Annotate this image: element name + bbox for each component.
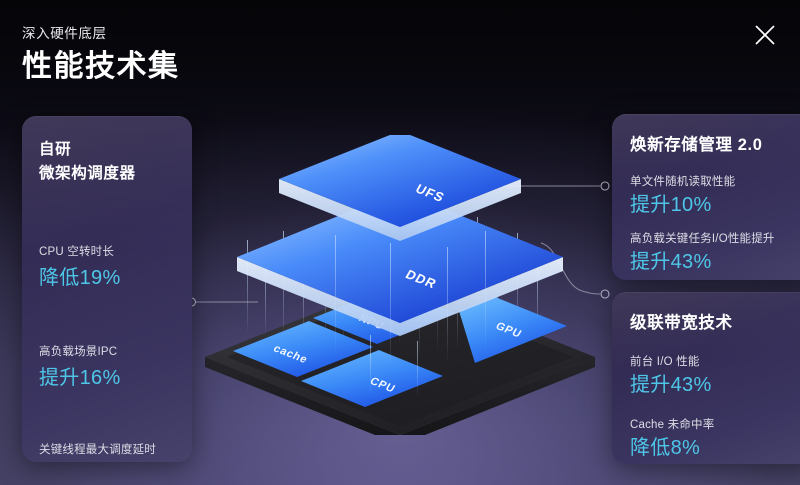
metric-high-load-ipc: 高负载场景IPC 提升16% [39, 345, 192, 391]
metric-value: 提升43% [630, 373, 800, 398]
panel-top-right-title: 焕新存储管理 2.0 [630, 134, 800, 157]
metric-cpu-idle-time: CPU 空转时长 降低19% [39, 245, 192, 291]
metric-label: 高负载关键任务I/O性能提升 [630, 232, 800, 247]
metric-label: Cache 未命中率 [630, 418, 800, 433]
panel-left-title: 自研 微架构调度器 [39, 138, 192, 185]
metric-value: 降低19% [39, 266, 192, 291]
metric-value: 提升10% [630, 193, 800, 218]
metric-value: 提升16% [39, 366, 192, 391]
metric-single-file-random-read: 单文件随机读取性能 提升10% [630, 175, 800, 218]
panel-left-title-line2: 微架构调度器 [39, 162, 192, 186]
page-title: 性能技术集 [22, 48, 180, 86]
metric-label: 前台 I/O 性能 [630, 355, 800, 370]
metric-label: CPU 空转时长 [39, 245, 192, 260]
chip-layer-ufs: UFS [279, 135, 521, 241]
panel-storage-management: 焕新存储管理 2.0 单文件随机读取性能 提升10% 高负载关键任务I/O性能提… [612, 114, 800, 280]
panel-left-title-line1: 自研 [39, 138, 192, 162]
panel-micro-architecture-scheduler: 自研 微架构调度器 CPU 空转时长 降低19% 高负载场景IPC 提升16% … [22, 116, 192, 462]
metric-foreground-io-performance: 前台 I/O 性能 提升43% [630, 355, 800, 398]
metric-label: 关键线程最大调度延时 [39, 443, 192, 458]
metric-label: 高负载场景IPC [39, 345, 192, 360]
performance-tech-overlay: 深入硬件底层 性能技术集 [0, 0, 800, 485]
metric-label: 单文件随机读取性能 [630, 175, 800, 190]
chip-stack-diagram: cache NPU CPU GPU DDR [185, 135, 615, 435]
panel-bottom-right-title: 级联带宽技术 [630, 312, 800, 335]
close-button[interactable] [748, 18, 782, 52]
close-icon [754, 24, 776, 46]
metric-key-thread-scheduling-latency: 关键线程最大调度延时 降低46% [39, 443, 192, 462]
metric-high-load-io-performance: 高负载关键任务I/O性能提升 提升43% [630, 232, 800, 275]
metric-value: 提升43% [630, 250, 800, 275]
metric-value: 降低8% [630, 436, 800, 461]
metric-cache-miss-rate: Cache 未命中率 降低8% [630, 418, 800, 461]
panel-cascade-bandwidth: 级联带宽技术 前台 I/O 性能 提升43% Cache 未命中率 降低8% [612, 292, 800, 464]
page-kicker: 深入硬件底层 [22, 22, 107, 42]
